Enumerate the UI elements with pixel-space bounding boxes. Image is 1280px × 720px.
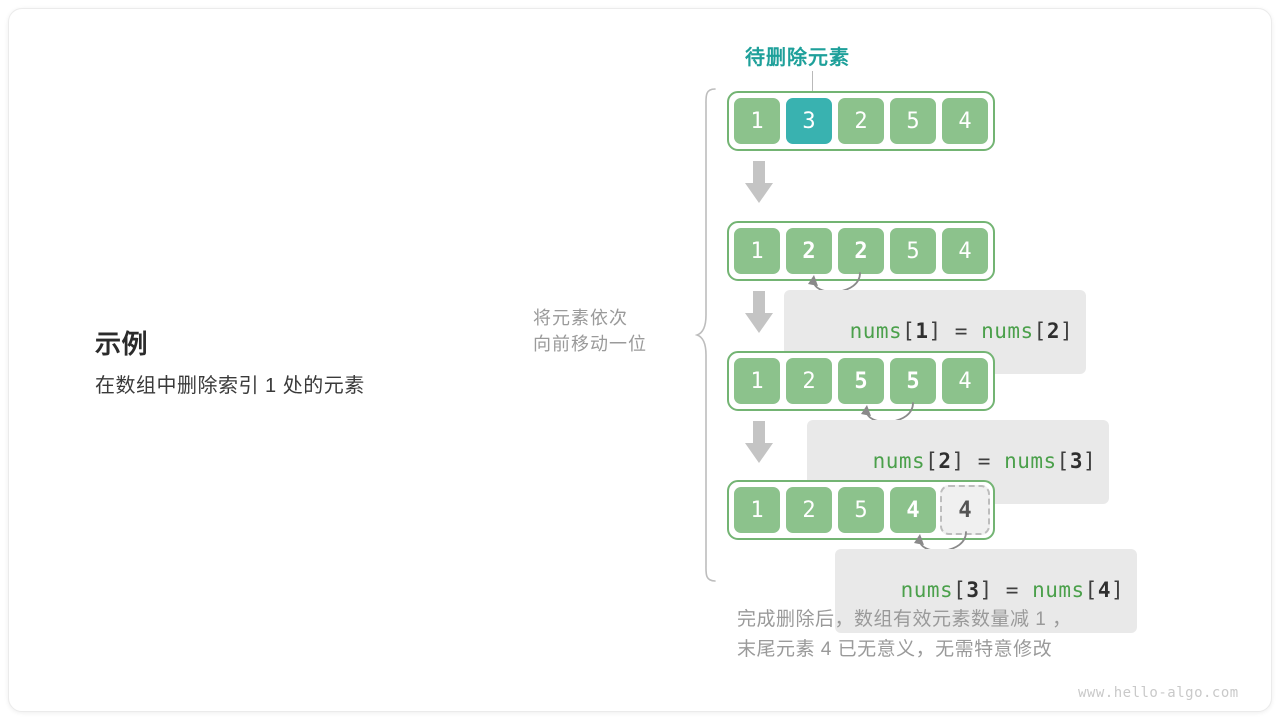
array-cell[interactable]: 5 bbox=[888, 226, 938, 276]
middle-caption-line2: 向前移动一位 bbox=[533, 331, 693, 357]
array-cell-source[interactable]: 5 bbox=[888, 356, 938, 406]
down-arrow-icon bbox=[742, 421, 776, 465]
code-rhs-name: nums bbox=[1004, 449, 1057, 473]
array-cell[interactable]: 2 bbox=[836, 96, 886, 146]
code-lhs-index: 2 bbox=[938, 449, 951, 473]
code-lhs-index: 3 bbox=[966, 578, 979, 602]
code-rhs-index: 3 bbox=[1070, 449, 1083, 473]
code-lhs-name: nums bbox=[873, 449, 926, 473]
bottom-note-line2: 末尾元素 4 已无意义，无需特意修改 bbox=[737, 635, 1207, 665]
code-rhs-name: nums bbox=[981, 319, 1034, 343]
code-operator: = bbox=[978, 449, 991, 473]
array-cell[interactable]: 1 bbox=[732, 96, 782, 146]
array-cell[interactable]: 2 bbox=[784, 356, 834, 406]
array-cell[interactable]: 2 bbox=[784, 485, 834, 535]
array-cell-invalid[interactable]: 4 bbox=[940, 485, 990, 535]
code-lhs-name: nums bbox=[901, 578, 954, 602]
down-arrow-icon bbox=[742, 291, 776, 335]
down-arrow-icon bbox=[742, 161, 776, 205]
code-lhs-index: 1 bbox=[915, 319, 928, 343]
step-initial-array: 1 3 2 5 4 bbox=[727, 91, 995, 151]
description-block: 示例 在数组中删除索引 1 处的元素 bbox=[95, 327, 515, 400]
middle-caption: 将元素依次 向前移动一位 bbox=[533, 305, 693, 357]
array-cell[interactable]: 1 bbox=[732, 485, 782, 535]
page-title: 示例 bbox=[95, 327, 515, 362]
code-operator: = bbox=[955, 319, 968, 343]
code-operator: = bbox=[1006, 578, 1019, 602]
middle-caption-line1: 将元素依次 bbox=[533, 305, 693, 331]
highlight-label: 待删除元素 bbox=[745, 41, 850, 70]
array-cell[interactable]: 5 bbox=[888, 96, 938, 146]
code-rhs-index: 4 bbox=[1098, 578, 1111, 602]
array-cell[interactable]: 1 bbox=[732, 226, 782, 276]
array-cell-updated[interactable]: 5 bbox=[836, 356, 886, 406]
code-rhs-name: nums bbox=[1032, 578, 1085, 602]
code-lhs-name: nums bbox=[850, 319, 903, 343]
array-cell[interactable]: 5 bbox=[836, 485, 886, 535]
bottom-note: 完成删除后，数组有效元素数量减 1 ， 末尾元素 4 已无意义，无需特意修改 bbox=[737, 605, 1207, 666]
array-cell-updated[interactable]: 4 bbox=[888, 485, 938, 535]
diagram-card: 示例 在数组中删除索引 1 处的元素 将元素依次 向前移动一位 待删除元素 1 … bbox=[8, 8, 1272, 712]
array-cell[interactable]: 4 bbox=[940, 356, 990, 406]
array-cell-highlighted[interactable]: 3 bbox=[784, 96, 834, 146]
array-cell-source[interactable]: 2 bbox=[836, 226, 886, 276]
array-cell[interactable]: 1 bbox=[732, 356, 782, 406]
code-rhs-index: 2 bbox=[1047, 319, 1060, 343]
array-cell-updated[interactable]: 2 bbox=[784, 226, 834, 276]
bottom-note-line1: 完成删除后，数组有效元素数量减 1 ， bbox=[737, 605, 1207, 635]
watermark: www.hello-algo.com bbox=[1078, 685, 1239, 701]
grouping-brace-icon bbox=[695, 87, 721, 583]
array-cell[interactable]: 4 bbox=[940, 96, 990, 146]
array-cell[interactable]: 4 bbox=[940, 226, 990, 276]
description-subtitle: 在数组中删除索引 1 处的元素 bbox=[95, 372, 515, 400]
